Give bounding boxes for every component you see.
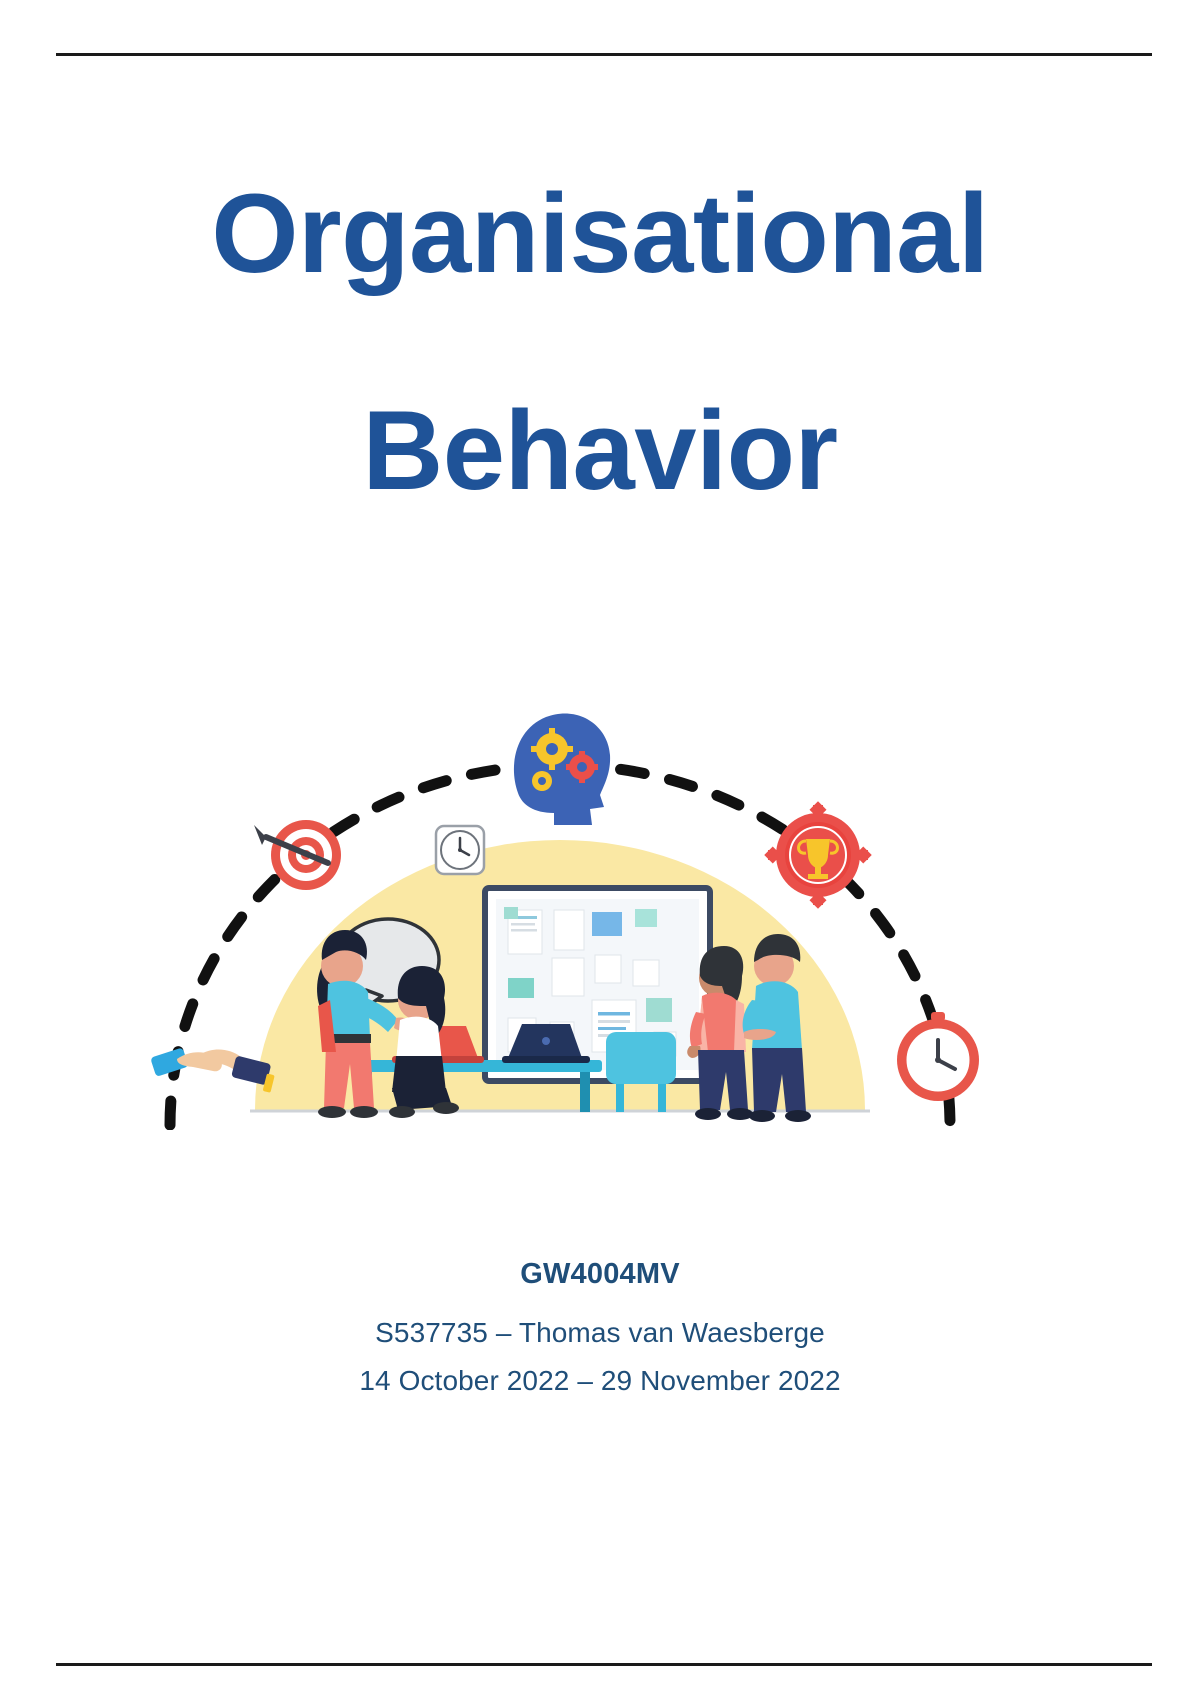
clock-icon (897, 1012, 979, 1101)
course-code: GW4004MV (0, 1258, 1200, 1291)
title-line-two: Behavior (0, 395, 1200, 507)
author-line: S537735 – Thomas van Waesberge (0, 1317, 1200, 1349)
cover-illustration (130, 660, 990, 1130)
date-range-line: 14 October 2022 – 29 November 2022 (0, 1365, 1200, 1397)
wall-clock-icon (436, 826, 484, 874)
page-title: Organisational Behavior (0, 178, 1200, 507)
cover-page: Organisational Behavior (0, 0, 1200, 1700)
footer-rule (56, 1663, 1152, 1666)
header-rule (56, 53, 1152, 56)
handshake-icon (150, 1047, 275, 1092)
title-line-one: Organisational (0, 178, 1200, 290)
head-gears-icon (514, 713, 610, 825)
document-metadata: GW4004MV S537735 – Thomas van Waesberge … (0, 1258, 1200, 1397)
